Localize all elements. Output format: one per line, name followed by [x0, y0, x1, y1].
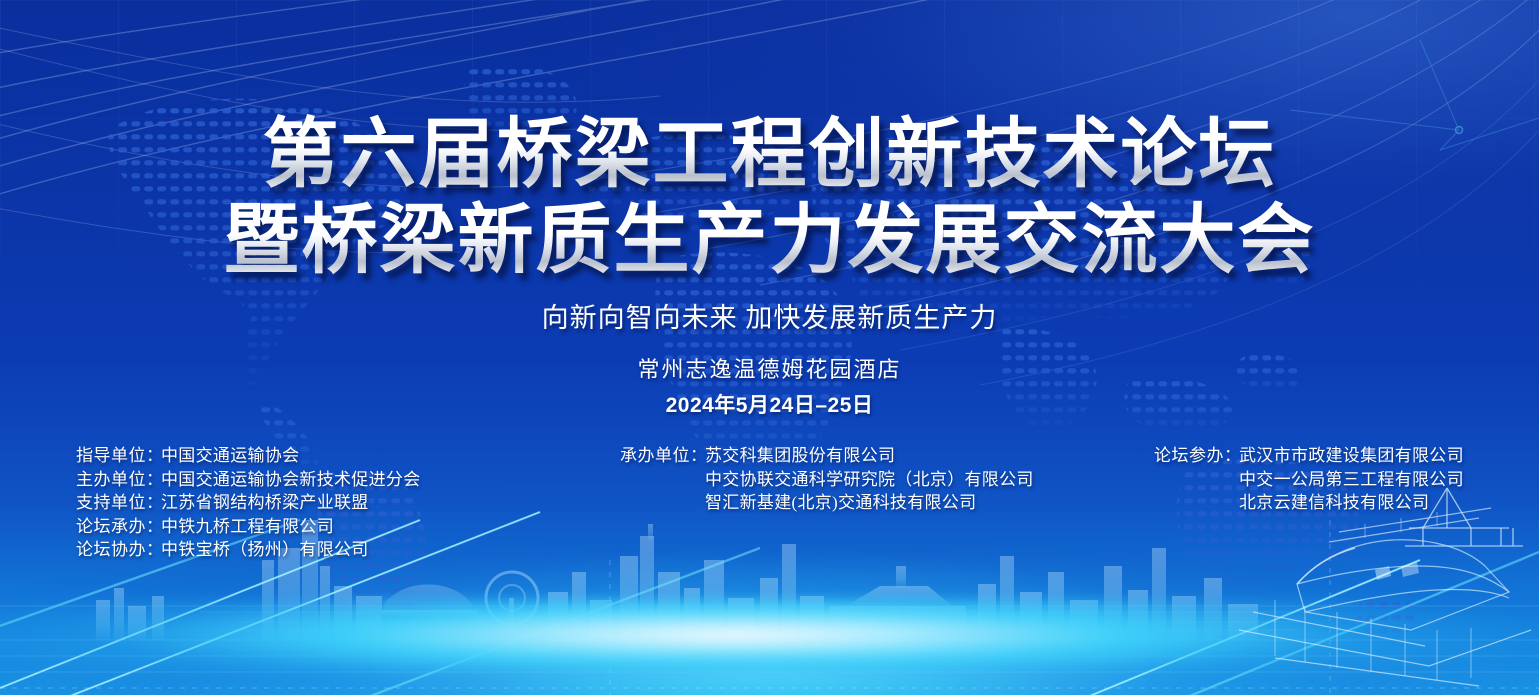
organizer-row: 论坛参办： 武汉市市政建设集团有限公司: [1154, 444, 1464, 468]
organizer-value: 中交协联交通科学研究院（北京）有限公司: [705, 468, 1034, 492]
organizer-value: 武汉市市政建设集团有限公司: [1239, 444, 1464, 468]
organizer-row: 支持单位： 江苏省钢结构桥梁产业联盟: [76, 491, 421, 515]
organizer-row: 论坛参办： 北京云建信科技有限公司: [1154, 491, 1464, 515]
organizer-row: 论坛参办： 中交一公局第三工程有限公司: [1154, 468, 1464, 492]
organizer-label: 指导单位：: [76, 444, 161, 468]
venue-name: 常州志逸温德姆花园酒店: [0, 352, 1539, 384]
venue-block: 常州志逸温德姆花园酒店 2024年5月24日–25日: [0, 352, 1539, 419]
organizer-label: 承办单位：: [620, 444, 705, 468]
organizer-row: 承办单位： 苏交科集团股份有限公司: [620, 444, 1034, 468]
organizer-row: 承办单位： 智汇新基建(北京)交通科技有限公司: [620, 491, 1034, 515]
organizer-credits: 指导单位： 中国交通运输协会 主办单位： 中国交通运输协会新技术促进分会 支持单…: [0, 444, 1539, 564]
organizer-row: 指导单位： 中国交通运输协会: [76, 444, 421, 468]
title-line-1: 第六届桥梁工程创新技术论坛: [0, 112, 1539, 198]
organizer-value: 中国交通运输协会: [161, 444, 299, 468]
organizer-value: 北京云建信科技有限公司: [1239, 491, 1429, 515]
organizer-value: 江苏省钢结构桥梁产业联盟: [161, 491, 369, 515]
banner-slogan: 向新向智向未来 加快发展新质生产力: [0, 296, 1539, 335]
organizer-value: 中铁宝桥（扬州）有限公司: [161, 538, 369, 562]
organizer-label: 论坛协办：: [76, 538, 161, 562]
organizer-row: 论坛承办： 中铁九桥工程有限公司: [76, 515, 421, 539]
organizer-row: 论坛协办： 中铁宝桥（扬州）有限公司: [76, 538, 421, 562]
organizer-column-right: 论坛参办： 武汉市市政建设集团有限公司 论坛参办： 中交一公局第三工程有限公司 …: [1154, 444, 1464, 515]
venue-date: 2024年5月24日–25日: [0, 389, 1539, 419]
organizer-value: 中国交通运输协会新技术促进分会: [161, 468, 421, 492]
organizer-label: 论坛承办：: [76, 515, 161, 539]
banner-title: 第六届桥梁工程创新技术论坛 暨桥梁新质生产力发展交流大会: [0, 112, 1539, 284]
organizer-label: 论坛参办：: [1154, 444, 1239, 468]
organizer-value: 中交一公局第三工程有限公司: [1239, 468, 1464, 492]
conference-banner: 第六届桥梁工程创新技术论坛 暨桥梁新质生产力发展交流大会 向新向智向未来 加快发…: [0, 0, 1539, 695]
organizer-label: 主办单位：: [76, 468, 161, 492]
organizer-column-middle: 承办单位： 苏交科集团股份有限公司 承办单位： 中交协联交通科学研究院（北京）有…: [620, 444, 1034, 515]
organizer-value: 中铁九桥工程有限公司: [161, 515, 334, 539]
title-line-2: 暨桥梁新质生产力发展交流大会: [0, 198, 1539, 284]
organizer-column-left: 指导单位： 中国交通运输协会 主办单位： 中国交通运输协会新技术促进分会 支持单…: [76, 444, 421, 562]
organizer-row: 主办单位： 中国交通运输协会新技术促进分会: [76, 468, 421, 492]
organizer-value: 智汇新基建(北京)交通科技有限公司: [705, 491, 976, 515]
organizer-row: 承办单位： 中交协联交通科学研究院（北京）有限公司: [620, 468, 1034, 492]
organizer-label: 支持单位：: [76, 491, 161, 515]
organizer-value: 苏交科集团股份有限公司: [705, 444, 895, 468]
